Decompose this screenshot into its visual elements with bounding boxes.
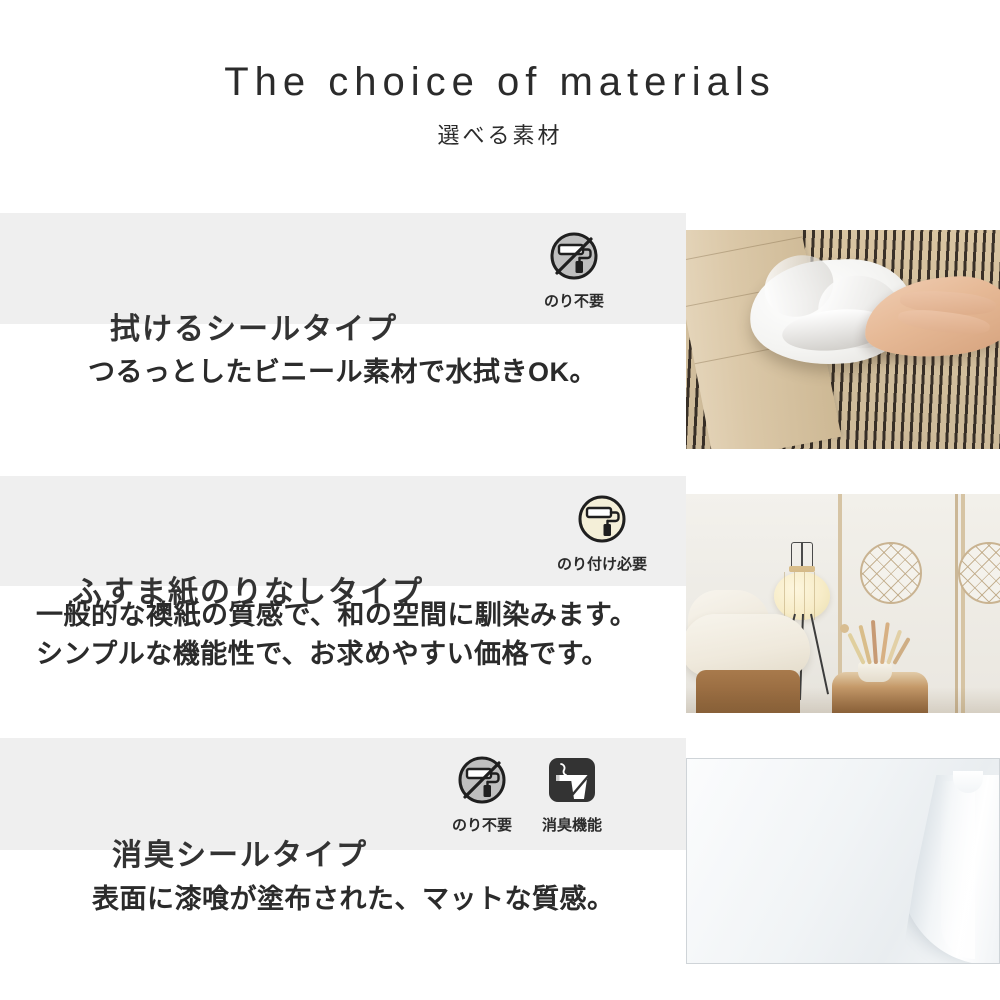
paper-curl-highlight — [941, 781, 975, 959]
section-badges: のり不要 — [536, 230, 612, 311]
section-badges: のり付け必要 — [542, 493, 662, 574]
floor-shadow — [686, 687, 1000, 713]
description-line: シンプルな機能性で、お求めやすい価格です。 — [36, 635, 637, 674]
section-title: 拭けるシールタイプ — [110, 304, 398, 348]
material-section-fusuma-paper-no-glue-type: ふすま紙のりなしタイプ のり付け必要 一般的な襖紙の質感で、和の空間に馴染みます… — [0, 476, 1000, 702]
paper-lantern-lamp — [774, 572, 830, 620]
badge-glue-needed: のり付け必要 — [542, 493, 662, 574]
section-title: 消臭シールタイプ — [112, 830, 368, 874]
no-glue-icon — [546, 230, 602, 286]
description-line: 表面に漆喰が塗布された、マットな質感。 — [92, 880, 615, 919]
badge-label: 消臭機能 — [542, 814, 602, 835]
fusuma-knob — [840, 624, 849, 633]
material-section-deodorizing-seal-type: 消臭シールタイプ のり不要 — [0, 738, 1000, 966]
plant-pot — [858, 662, 892, 682]
materials-choice-page: The choice of materials 選べる素材 拭けるシールタイプ … — [0, 0, 1000, 1000]
badge-deodorize: 消臭機能 — [534, 754, 610, 835]
description-line: つるっとしたビニール素材で水拭きOK。 — [88, 353, 597, 392]
section-description: 一般的な襖紙の質感で、和の空間に馴染みます。 シンプルな機能性で、お求めやすい価… — [36, 596, 637, 674]
wiping-rattan-photo — [686, 230, 1000, 449]
page-title: The choice of materials — [224, 60, 776, 104]
lamp-frame — [801, 542, 803, 568]
material-section-wipeable-seal-type: 拭けるシールタイプ のり不要 つるっとしたビニール素材で水拭きOK。 — [0, 213, 1000, 438]
badge-label: のり付け必要 — [557, 553, 647, 574]
no-glue-icon — [454, 754, 510, 810]
badge-no-glue: のり不要 — [444, 754, 520, 835]
deodorize-icon — [544, 754, 600, 810]
armchair — [686, 614, 810, 676]
badge-no-glue: のり不要 — [536, 230, 612, 311]
section-badges: のり不要 消臭機能 — [444, 754, 610, 835]
circular-lattice-motif — [860, 542, 922, 604]
section-description: 表面に漆喰が塗布された、マットな質感。 — [92, 880, 615, 919]
page-header: The choice of materials 選べる素材 — [0, 0, 1000, 200]
glue-needed-icon — [574, 493, 630, 549]
section-description: つるっとしたビニール素材で水拭きOK。 — [88, 353, 597, 392]
page-subtitle: 選べる素材 — [437, 118, 562, 150]
description-line: 一般的な襖紙の質感で、和の空間に馴染みます。 — [36, 596, 637, 635]
white-paper-curl-photo — [686, 758, 1000, 964]
badge-label: のり不要 — [452, 814, 512, 835]
japanese-room-photo — [686, 494, 1000, 713]
badge-label: のり不要 — [544, 290, 604, 311]
